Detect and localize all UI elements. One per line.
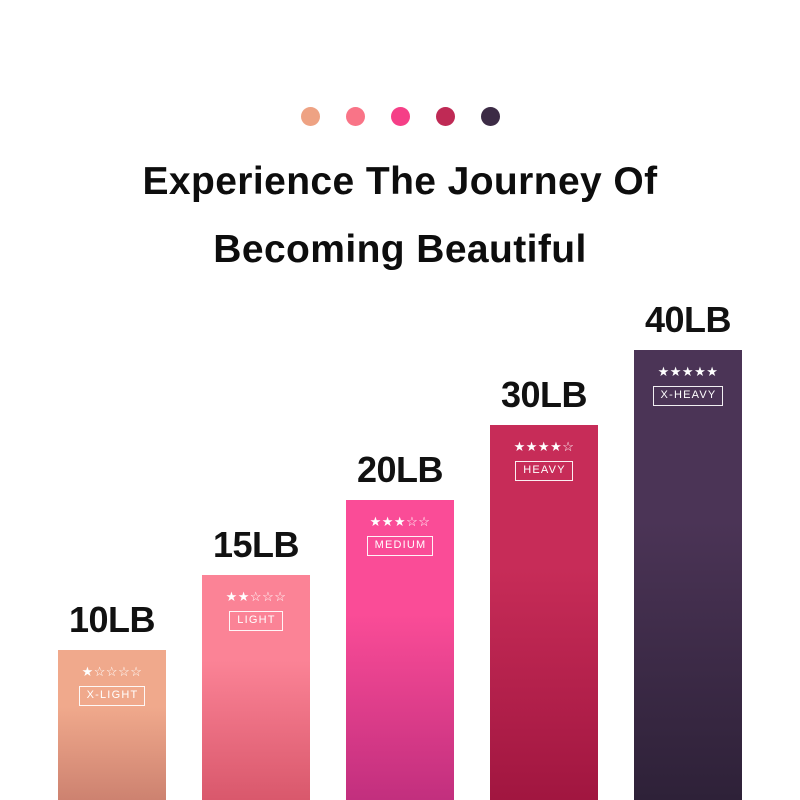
bar-weight-label-10lb: 10LB xyxy=(69,602,155,638)
bar-star-rating-40lb: ★★★★★ xyxy=(658,364,719,379)
bar-level-badge-40lb: X-HEAVY xyxy=(653,386,724,406)
dot-icon-2 xyxy=(346,107,365,126)
bar-15lb: ★★☆☆☆ LIGHT xyxy=(202,575,310,800)
bar-column-30lb: 30LB ★★★★☆ HEAVY xyxy=(490,280,598,800)
resistance-level-bar-chart: 10LB ★☆☆☆☆ X-LIGHT 15LB ★★☆☆☆ LIGHT 20LB… xyxy=(0,280,800,800)
bar-weight-label-40lb: 40LB xyxy=(645,302,731,338)
bar-30lb: ★★★★☆ HEAVY xyxy=(490,425,598,800)
dot-icon-4 xyxy=(436,107,455,126)
bar-star-rating-30lb: ★★★★☆ xyxy=(514,439,575,454)
bar-column-10lb: 10LB ★☆☆☆☆ X-LIGHT xyxy=(58,280,166,800)
dot-icon-3 xyxy=(391,107,410,126)
bar-column-20lb: 20LB ★★★☆☆ MEDIUM xyxy=(346,280,454,800)
bar-weight-label-30lb: 30LB xyxy=(501,377,587,413)
dot-icon-1 xyxy=(301,107,320,126)
bar-level-badge-20lb: MEDIUM xyxy=(367,536,434,556)
dot-icon-5 xyxy=(481,107,500,126)
bar-level-badge-15lb: LIGHT xyxy=(229,611,282,631)
page-title: Experience The Journey Of Becoming Beaut… xyxy=(0,148,800,284)
bar-star-rating-20lb: ★★★☆☆ xyxy=(370,514,431,529)
bar-star-rating-10lb: ★☆☆☆☆ xyxy=(82,664,143,679)
bar-column-15lb: 15LB ★★☆☆☆ LIGHT xyxy=(202,280,310,800)
bar-20lb: ★★★☆☆ MEDIUM xyxy=(346,500,454,800)
bar-level-badge-30lb: HEAVY xyxy=(515,461,572,481)
bar-10lb: ★☆☆☆☆ X-LIGHT xyxy=(58,650,166,800)
bar-column-40lb: 40LB ★★★★★ X-HEAVY xyxy=(634,280,742,800)
bar-40lb: ★★★★★ X-HEAVY xyxy=(634,350,742,800)
bar-star-rating-15lb: ★★☆☆☆ xyxy=(226,589,287,604)
bar-level-badge-10lb: X-LIGHT xyxy=(79,686,146,706)
page-title-line-1: Experience The Journey Of xyxy=(0,148,800,216)
bar-weight-label-15lb: 15LB xyxy=(213,527,299,563)
infographic-page: Experience The Journey Of Becoming Beaut… xyxy=(0,0,800,800)
bar-weight-label-20lb: 20LB xyxy=(357,452,443,488)
page-title-line-2: Becoming Beautiful xyxy=(0,216,800,284)
color-swatch-dot-row xyxy=(0,105,800,127)
